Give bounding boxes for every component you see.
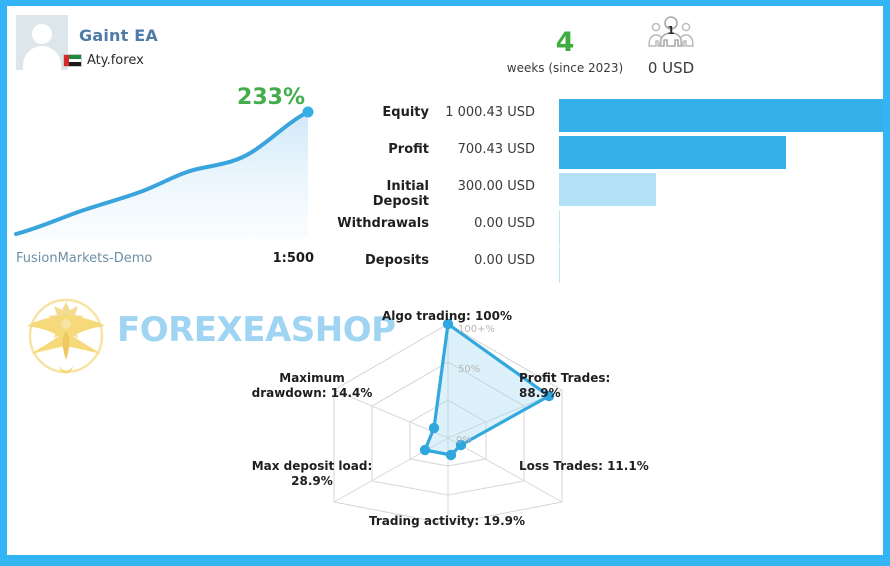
radar-ring-label-50: 50% — [458, 364, 480, 375]
radar-label-profit-trades: Profit Trades: 88.9% — [519, 371, 649, 401]
stat-bar-track — [559, 173, 883, 206]
radar-label-algo-trading: Algo trading: 100% — [337, 309, 557, 324]
subscribers-value: 0 USD — [629, 59, 713, 77]
growth-chart — [12, 88, 317, 243]
avatar — [16, 15, 68, 70]
uae-flag-icon — [63, 54, 82, 67]
table-row: Deposits 0.00 USD — [337, 247, 882, 284]
avatar-head-shape — [32, 24, 52, 44]
stat-bar — [559, 99, 883, 132]
broker-name[interactable]: FusionMarkets-Demo — [16, 251, 152, 266]
stat-bar — [559, 210, 560, 246]
stat-label: Deposits — [337, 253, 429, 268]
stat-label: Equity — [337, 105, 429, 120]
stat-label: Initial Deposit — [337, 179, 429, 209]
account-card: Gaint EA Aty.forex 4 weeks (since 2023) … — [7, 6, 883, 555]
table-row: Profit 700.43 USD — [337, 136, 882, 173]
stat-label: Profit — [337, 142, 429, 157]
screenshot-frame: Gaint EA Aty.forex 4 weeks (since 2023) … — [0, 0, 890, 566]
weeks-label: weeks (since 2023) — [490, 61, 640, 75]
growth-percent: 233% — [225, 85, 317, 110]
leverage-value: 1:500 — [242, 251, 314, 266]
stat-bar — [559, 173, 656, 206]
stat-value: 0.00 USD — [437, 216, 535, 231]
stat-bar-track — [559, 99, 883, 132]
table-row: Initial Deposit 300.00 USD — [337, 173, 882, 210]
radar-label-max-deposit-load: Max deposit load: 28.9% — [237, 459, 387, 489]
radar-chart: 100+% 50% 0% — [262, 304, 662, 544]
stat-bar — [559, 247, 560, 283]
stat-value: 300.00 USD — [437, 179, 535, 194]
table-row: Equity 1 000.43 USD — [337, 99, 882, 136]
stat-value: 700.43 USD — [437, 142, 535, 157]
table-row: Withdrawals 0.00 USD — [337, 210, 882, 247]
radar-label-loss-trades: Loss Trades: 11.1% — [519, 459, 669, 474]
three-people-icon: 1 — [647, 16, 695, 50]
broker-username: Aty.forex — [87, 53, 144, 68]
stat-bar — [559, 136, 786, 169]
stat-bar-track — [559, 247, 883, 280]
avatar-body-shape — [23, 46, 61, 76]
stat-value: 1 000.43 USD — [437, 105, 535, 120]
flag-band-black — [69, 62, 81, 66]
account-name[interactable]: Gaint EA — [79, 26, 158, 45]
stat-bar-track — [559, 210, 883, 243]
stat-label: Withdrawals — [337, 216, 429, 231]
radar-label-maximum-drawdown: Maximum drawdown: 14.4% — [237, 371, 387, 401]
radar-ring-label-100: 100+% — [458, 324, 495, 335]
stat-bar-track — [559, 136, 883, 169]
stats-table: Equity 1 000.43 USD Profit 700.43 USD In… — [337, 99, 882, 284]
weeks-value: 4 — [490, 27, 640, 58]
radar-ring-label-0: 0% — [456, 435, 472, 446]
subscribers-badge-text: 1 — [667, 24, 675, 37]
eagle-emblem-icon — [21, 288, 111, 388]
radar-label-trading-activity: Trading activity: 19.9% — [327, 514, 567, 529]
stat-value: 0.00 USD — [437, 253, 535, 268]
